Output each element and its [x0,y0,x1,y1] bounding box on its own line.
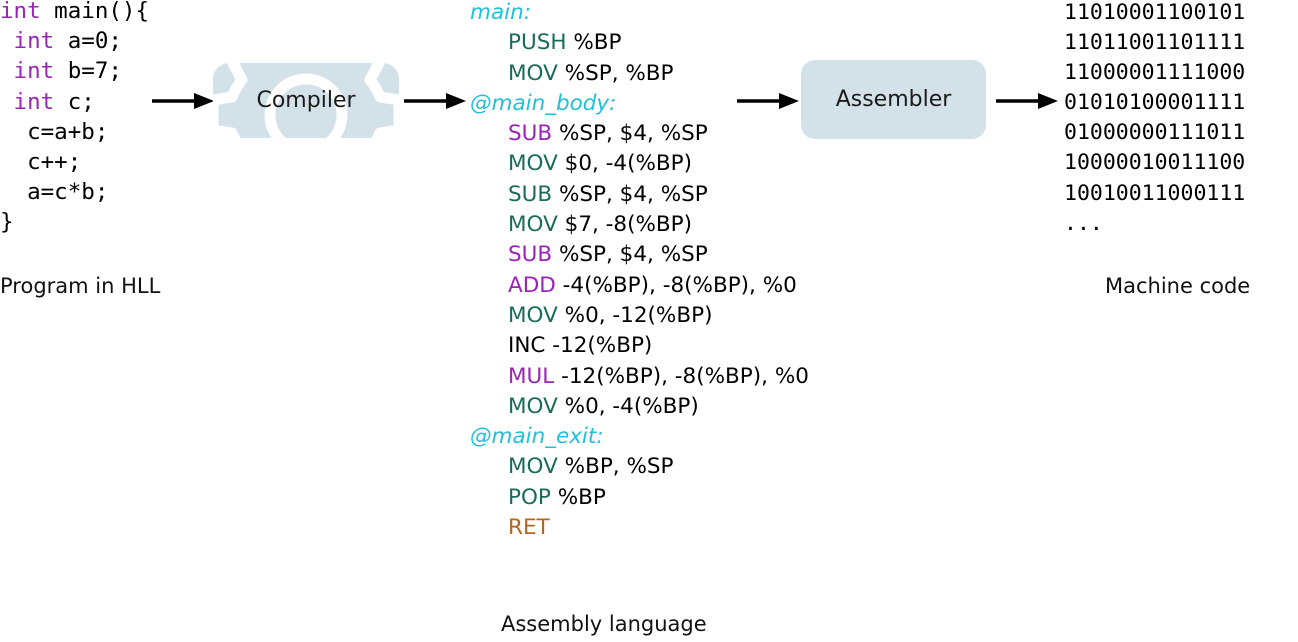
assembly-instruction: MOV %BP, %SP [470,454,674,479]
hll-caption: Program in HLL [0,274,160,298]
assembly-label: @main_exit: [470,424,604,449]
assembly-label: main: [470,0,531,25]
arrow-hll-to-compiler [152,88,216,114]
hll-code-text: c++; [0,149,81,175]
arrow-assembly-to-assembler [737,88,801,114]
assembler-label: Assembler [836,87,952,112]
assembly-operands: %BP, %SP [558,454,674,479]
hll-code-text: } [0,209,14,235]
assembly-opcode: MOV [508,454,558,479]
assembly-instruction-line: MOV $0, -4(%BP) [470,149,870,179]
assembly-operands: %0, -12(%BP) [558,303,713,328]
assembly-label: @main_body: [470,91,616,116]
hll-keyword: int [0,58,54,84]
assembly-instruction: MOV $7, -8(%BP) [470,212,692,237]
hll-code-text: b=7; [54,58,122,84]
assembly-instruction-line: MOV $7, -8(%BP) [470,210,870,240]
assembly-instruction: SUB %SP, $4, %SP [470,242,708,267]
assembly-opcode: INC [508,333,545,358]
hll-line: int b=7; [0,56,149,86]
compiler-label: Compiler [213,63,399,138]
assembly-operands: -4(%BP), -8(%BP), %0 [556,273,797,298]
assembly-instruction: ADD -4(%BP), -8(%BP), %0 [470,273,797,298]
assembly-instruction: MUL -12(%BP), -8(%BP), %0 [470,364,809,389]
hll-code-text: a=0; [54,28,122,54]
assembly-operands: %SP, $4, %SP [552,121,708,146]
assembly-instruction: MOV $0, -4(%BP) [470,151,692,176]
assembly-operands: -12(%BP), -8(%BP), %0 [554,364,809,389]
assembly-opcode: MOV [508,61,558,86]
hll-line: } [0,207,149,237]
assembly-operands: -12(%BP) [545,333,652,358]
assembly-caption: Assembly language [501,612,707,636]
assembly-opcode: MOV [508,394,558,419]
machine-code-line: 01010100001111 [1064,88,1245,118]
hll-keyword: int [0,28,54,54]
assembly-opcode: MOV [508,151,558,176]
machine-code-line: ... [1064,209,1245,239]
assembly-instruction-line: SUB %SP, $4, %SP [470,240,870,270]
machine-code-line: 10000010011100 [1064,148,1245,178]
hll-keyword: int [0,89,54,115]
assembler-box[interactable]: Assembler [801,60,986,139]
assembly-operands: %BP [551,485,606,510]
assembly-instruction: PUSH %BP [470,30,622,55]
assembly-instruction-line: POP %BP [470,483,870,513]
assembly-instruction-line: SUB %SP, $4, %SP [470,180,870,210]
assembly-operands: %SP, %BP [558,61,674,86]
hll-line: a=c*b; [0,177,149,207]
assembly-instruction: SUB %SP, $4, %SP [470,121,708,146]
assembly-instruction: MOV %0, -12(%BP) [470,303,712,328]
assembly-opcode: ADD [508,273,556,298]
assembly-instruction-line: INC -12(%BP) [470,331,870,361]
hll-code-text: c=a+b; [0,119,108,145]
hll-code-text: main(){ [41,0,149,24]
hll-code-text: c; [54,89,95,115]
assembly-instruction: RET [470,515,550,540]
assembly-instruction: MOV %SP, %BP [470,61,674,86]
assembly-opcode: MOV [508,212,558,237]
assembly-operands: $7, -8(%BP) [558,212,692,237]
arrow-assembler-to-machine-code [996,88,1060,114]
assembly-instruction-line: MOV %0, -12(%BP) [470,301,870,331]
assembly-opcode: POP [508,485,551,510]
machine-code-line: 11000001111000 [1064,58,1245,88]
hll-source-code: int main(){ int a=0; int b=7; int c; c=a… [0,0,149,238]
assembly-opcode: PUSH [508,30,567,55]
assembly-label-line: @main_exit: [470,422,870,452]
assembly-operands: $0, -4(%BP) [558,151,692,176]
machine-code-line: 11011001101111 [1064,28,1245,58]
hll-line: int a=0; [0,26,149,56]
assembly-opcode: SUB [508,182,552,207]
assembly-operands: %BP [567,30,622,55]
assembly-operands: %SP, $4, %SP [552,242,708,267]
assembly-instruction-line: RET [470,513,870,543]
assembly-opcode: RET [508,515,550,540]
assembly-label-line: main: [470,0,870,28]
assembly-instruction: SUB %SP, $4, %SP [470,182,708,207]
assembly-opcode: SUB [508,242,552,267]
assembly-instruction: INC -12(%BP) [470,333,652,358]
machine-code-listing: 1101000110010111011001101111110000011110… [1064,0,1245,239]
assembly-opcode: MOV [508,303,558,328]
assembly-opcode: MUL [508,364,554,389]
hll-line: c=a+b; [0,117,149,147]
assembly-instruction-line: MOV %BP, %SP [470,452,870,482]
assembly-opcode: SUB [508,121,552,146]
assembly-instruction: MOV %0, -4(%BP) [470,394,699,419]
assembly-instruction-line: MOV %0, -4(%BP) [470,392,870,422]
machine-code-line: 10010011000111 [1064,179,1245,209]
assembly-instruction: POP %BP [470,485,606,510]
assembly-operands: %0, -4(%BP) [558,394,699,419]
assembly-instruction-line: ADD -4(%BP), -8(%BP), %0 [470,271,870,301]
arrow-compiler-to-assembly [404,88,468,114]
machine-code-caption: Machine code [1105,274,1250,298]
assembly-operands: %SP, $4, %SP [552,182,708,207]
machine-code-line: 11010001100101 [1064,0,1245,28]
hll-code-text: a=c*b; [0,179,108,205]
hll-line: int c; [0,87,149,117]
hll-line: c++; [0,147,149,177]
assembly-instruction-line: MUL -12(%BP), -8(%BP), %0 [470,362,870,392]
hll-line: int main(){ [0,0,149,26]
hll-keyword: int [0,0,41,24]
assembly-instruction-line: PUSH %BP [470,28,870,58]
machine-code-line: 01000000111011 [1064,118,1245,148]
